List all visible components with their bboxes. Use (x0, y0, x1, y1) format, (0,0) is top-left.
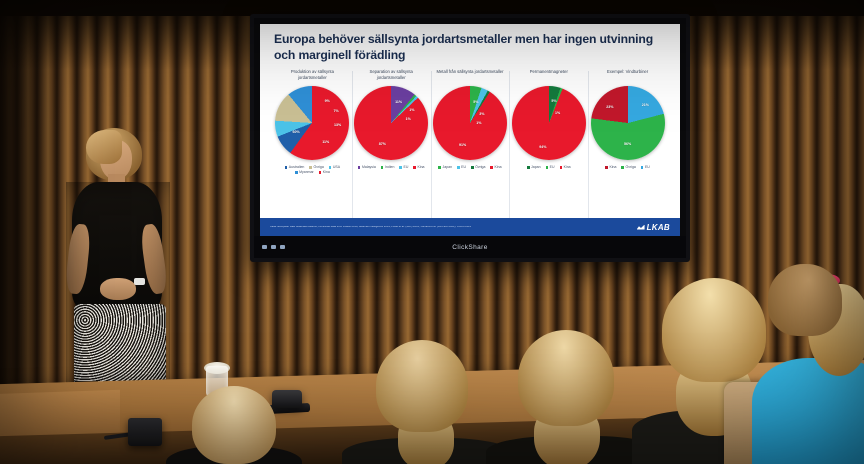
chart-column-windturbines: Exempel: Vindturbiner 21% 56% 23% Kina Ö… (589, 69, 666, 236)
audience-member (170, 386, 296, 464)
presenter (58, 128, 178, 388)
hdmi-icon (262, 245, 267, 249)
usb-icon (280, 245, 285, 249)
slide-footnote: Källa: European Raw Materials Alliance, … (270, 226, 471, 229)
legend-item: Kina (605, 165, 616, 169)
chart-column-magnets: Permanentmagneter 94% 5% 1% Japan EU Kin… (510, 69, 587, 236)
legend-label: Övriga (626, 165, 636, 169)
slice-label: 1% (409, 108, 414, 112)
slice-label: 1% (555, 111, 560, 115)
conference-microphone (128, 418, 162, 446)
legend-swatch (490, 166, 493, 169)
slide-title: Europa behöver sällsynta jordartsmetalle… (274, 32, 666, 63)
column-header: Exempel: Vindturbiner (605, 69, 650, 85)
legend-swatch (381, 166, 384, 169)
presenter-wristwatch (134, 278, 145, 285)
legend-swatch (285, 166, 288, 169)
slice-label: 11% (322, 140, 329, 144)
column-header: Metall från sällsynta jordartsmetaller (434, 69, 505, 85)
slice-label: 5% (551, 99, 556, 103)
bezel-icon-group (262, 245, 285, 249)
chart-column-production: Produktion av sällsynta jordartsmetaller… (274, 69, 351, 236)
pie-legend-windturbines: Kina Övriga EU (605, 165, 649, 169)
legend-label: Malaysia (362, 165, 376, 169)
legend-swatch (471, 166, 474, 169)
slice-label: 5% (473, 100, 478, 104)
audience-member (500, 330, 650, 464)
column-header: Produktion av sällsynta jordartsmetaller (274, 69, 351, 85)
slice-label: 56% (624, 142, 631, 146)
pie-shape (433, 86, 507, 160)
audience-head (768, 264, 842, 336)
legend-swatch (329, 166, 332, 169)
audience-head (662, 278, 766, 382)
slice-label: 1% (476, 121, 481, 125)
legend-label: Kina (495, 165, 502, 169)
legend-swatch (560, 166, 563, 169)
legend-label: Myanmar (299, 170, 314, 174)
slice-label: 9% (325, 99, 330, 103)
pie-chart-magnets: 94% 5% 1% (512, 86, 586, 160)
chart-column-separation: Separation av sällsynta jordartsmetaller… (353, 69, 430, 236)
audience-head (376, 340, 468, 432)
legend-label: EU (461, 165, 466, 169)
pie-shape (591, 86, 665, 160)
pie-legend-separation: Malaysia Indien EU Kina (358, 165, 425, 169)
legend-item: USA (329, 165, 340, 169)
legend-label: EU (550, 165, 555, 169)
legend-label: Japan (531, 165, 541, 169)
legend-item: Malaysia (358, 165, 376, 169)
legend-swatch (399, 166, 402, 169)
legend-swatch (527, 166, 530, 169)
legend-swatch (413, 166, 416, 169)
legend-swatch (457, 166, 460, 169)
chart-columns: Produktion av sällsynta jordartsmetaller… (274, 69, 666, 236)
legend-item: Kina (490, 165, 501, 169)
legend-item: EU (641, 165, 650, 169)
pie-legend-metal: Japan EU Övriga Kina (438, 165, 501, 169)
legend-label: Australien (289, 165, 305, 169)
legend-item: Övriga (471, 165, 485, 169)
presenter-hair-front (86, 130, 122, 164)
display-icon (271, 245, 276, 249)
audience-member (762, 262, 864, 464)
legend-swatch (309, 166, 312, 169)
legend-label: EU (404, 165, 409, 169)
slice-label: 87% (379, 142, 386, 146)
legend-label: Övriga (313, 165, 323, 169)
audience-member (352, 340, 502, 464)
pie-chart-windturbines: 21% 56% 23% (591, 86, 665, 160)
legend-swatch (319, 171, 322, 174)
legend-label: Övriga (475, 165, 485, 169)
display-screen[interactable]: Europa behöver sällsynta jordartsmetalle… (260, 24, 680, 236)
legend-swatch (605, 166, 608, 169)
slice-label: 7% (333, 109, 338, 113)
slice-label: 1% (406, 117, 411, 121)
legend-item: Indien (381, 165, 395, 169)
legend-swatch (295, 171, 298, 174)
slice-label: 13% (334, 123, 341, 127)
legend-swatch (641, 166, 644, 169)
pie-legend-production: Australien Övriga USA Myanmar Kina (274, 165, 351, 174)
presentation-slide: Europa behöver sällsynta jordartsmetalle… (260, 24, 680, 236)
lkab-logo: LKAB (637, 223, 670, 232)
legend-swatch (358, 166, 361, 169)
mountain-icon (637, 225, 645, 230)
legend-item: Japan (527, 165, 541, 169)
legend-item: Övriga (621, 165, 635, 169)
slice-label: 60% (293, 130, 300, 134)
legend-label: Kina (609, 165, 616, 169)
legend-label: USA (333, 165, 340, 169)
wall-display[interactable]: Europa behöver sällsynta jordartsmetalle… (250, 14, 690, 262)
legend-item: EU (546, 165, 555, 169)
pie-shape (354, 86, 428, 160)
display-bezel-bar: ClickShare (254, 236, 686, 258)
legend-item: Kina (413, 165, 424, 169)
slice-label: 94% (539, 145, 546, 149)
column-header: Permanentmagneter (528, 69, 570, 85)
presenter-hands (100, 278, 136, 300)
slice-label: 21% (642, 103, 649, 107)
legend-swatch (546, 166, 549, 169)
slice-label: 3% (479, 112, 484, 116)
pie-chart-separation: 87% 11% 1% 1% (354, 86, 428, 160)
legend-item: EU (457, 165, 466, 169)
legend-item: EU (399, 165, 408, 169)
legend-swatch (438, 166, 441, 169)
clickshare-label: ClickShare (452, 244, 487, 251)
slice-label: 11% (395, 100, 402, 104)
audience-head (518, 330, 614, 426)
slide-footer: Källa: European Raw Materials Alliance, … (260, 218, 680, 236)
pie-shape (512, 86, 586, 160)
legend-label: Kina (323, 170, 330, 174)
legend-item: Australien (285, 165, 305, 169)
legend-item: Kina (560, 165, 571, 169)
legend-item: Japan (438, 165, 452, 169)
pie-chart-production: 60% 9% 7% 13% 11% (275, 86, 349, 160)
legend-swatch (621, 166, 624, 169)
pie-chart-metal: 91% 5% 3% 1% (433, 86, 507, 160)
legend-label: Kina (417, 165, 424, 169)
column-header: Separation av sällsynta jordartsmetaller (353, 69, 430, 85)
legend-item: Kina (319, 170, 330, 174)
lkab-wordmark: LKAB (647, 223, 670, 232)
legend-item: Myanmar (295, 170, 314, 174)
legend-label: EU (645, 165, 650, 169)
legend-label: Indien (385, 165, 395, 169)
slice-label: 91% (459, 143, 466, 147)
legend-label: Kina (564, 165, 571, 169)
pie-legend-magnets: Japan EU Kina (527, 165, 571, 169)
legend-item: Övriga (309, 165, 323, 169)
audience-head (192, 386, 276, 464)
legend-label: Japan (443, 165, 453, 169)
chart-column-metal: Metall från sällsynta jordartsmetaller 9… (432, 69, 509, 236)
slice-label: 23% (606, 105, 613, 109)
